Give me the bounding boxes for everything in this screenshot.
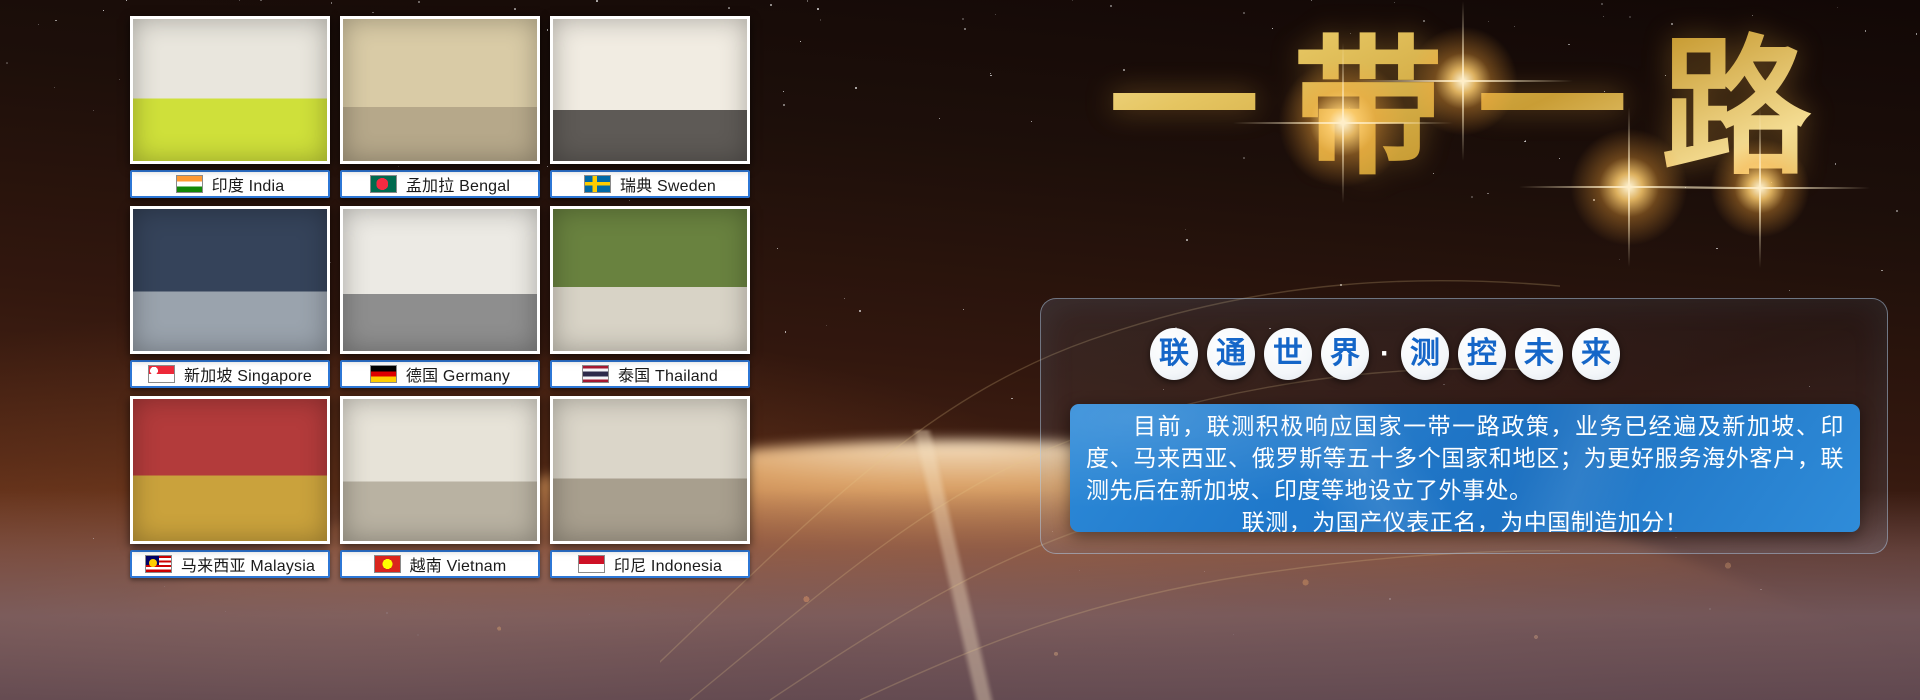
country-label: 新加坡 Singapore <box>184 362 312 386</box>
flag-singapore-icon <box>148 365 175 383</box>
photo-vignette <box>343 399 537 541</box>
gallery-card[interactable]: 印尼 Indonesia <box>550 396 750 578</box>
slogan-char-badge: 界 <box>1321 328 1369 380</box>
country-caption: 德国 Germany <box>340 360 540 388</box>
slogan-separator-dot: · <box>1378 339 1392 369</box>
country-label: 孟加拉 Bengal <box>406 172 510 196</box>
gallery-card[interactable]: 新加坡 Singapore <box>130 206 330 388</box>
country-photo[interactable] <box>550 396 750 544</box>
slogan-char-badge: 通 <box>1207 328 1255 380</box>
flag-bangladesh-icon <box>370 175 397 193</box>
slogan-char-badge: 联 <box>1150 328 1198 380</box>
country-caption: 印尼 Indonesia <box>550 550 750 578</box>
country-photo[interactable] <box>550 16 750 164</box>
photo-vignette <box>343 209 537 351</box>
gallery-card[interactable]: 孟加拉 Bengal <box>340 16 540 198</box>
gallery-card[interactable]: 瑞典 Sweden <box>550 16 750 198</box>
calligraphy-char: 一 <box>1477 33 1627 183</box>
slogan-char-badge: 测 <box>1401 328 1449 380</box>
flag-indonesia-icon <box>578 555 605 573</box>
country-caption: 孟加拉 Bengal <box>340 170 540 198</box>
gallery-card[interactable]: 德国 Germany <box>340 206 540 388</box>
photo-vignette <box>133 19 327 161</box>
country-label: 马来西亚 Malaysia <box>181 552 315 576</box>
flag-sweden-icon <box>584 175 611 193</box>
banner-stage: 印度 India孟加拉 Bengal瑞典 Sweden新加坡 Singapore… <box>0 0 1920 700</box>
country-photo[interactable] <box>550 206 750 354</box>
country-caption: 马来西亚 Malaysia <box>130 550 330 578</box>
description-paragraph: 目前，联测积极响应国家一带一路政策，业务已经遍及新加坡、印度、马来西亚、俄罗斯等… <box>1070 404 1860 507</box>
photo-vignette <box>133 209 327 351</box>
country-label: 印尼 Indonesia <box>614 552 722 576</box>
gallery-card[interactable]: 马来西亚 Malaysia <box>130 396 330 578</box>
photo-vignette <box>133 399 327 541</box>
slogan-char-badge: 控 <box>1458 328 1506 380</box>
calligraphy-char: 带 <box>1293 33 1443 183</box>
country-label: 瑞典 Sweden <box>620 172 716 196</box>
country-caption: 印度 India <box>130 170 330 198</box>
slogan-char-badge: 世 <box>1264 328 1312 380</box>
gallery-card[interactable]: 印度 India <box>130 16 330 198</box>
gallery-card[interactable]: 越南 Vietnam <box>340 396 540 578</box>
slogan-char-badge: 未 <box>1515 328 1563 380</box>
country-photo[interactable] <box>130 16 330 164</box>
calligraphy-char: 路 <box>1661 33 1811 183</box>
country-photo[interactable] <box>340 16 540 164</box>
country-caption: 新加坡 Singapore <box>130 360 330 388</box>
photo-vignette <box>343 19 537 161</box>
calligraphy-char: 一 <box>1109 33 1259 183</box>
flag-thailand-icon <box>582 365 609 383</box>
gallery-card[interactable]: 泰国 Thailand <box>550 206 750 388</box>
country-photo[interactable] <box>130 206 330 354</box>
flag-malaysia-icon <box>145 555 172 573</box>
country-caption: 泰国 Thailand <box>550 360 750 388</box>
photo-vignette <box>553 19 747 161</box>
flag-vietnam-icon <box>374 555 401 573</box>
slogan-row: 联通世界·测控未来 <box>1150 328 1620 380</box>
country-photo[interactable] <box>130 396 330 544</box>
calligraphy-characters: 一带一路 <box>1010 8 1910 208</box>
description-tagline: 联测，为国产仪表正名，为中国制造加分！ <box>1070 507 1860 532</box>
country-label: 德国 Germany <box>406 362 510 386</box>
country-caption: 越南 Vietnam <box>340 550 540 578</box>
country-label: 泰国 Thailand <box>618 362 718 386</box>
country-photo[interactable] <box>340 396 540 544</box>
photo-vignette <box>553 209 747 351</box>
flag-india-icon <box>176 175 203 193</box>
country-photo-grid: 印度 India孟加拉 Bengal瑞典 Sweden新加坡 Singapore… <box>130 16 750 578</box>
description-card: 目前，联测积极响应国家一带一路政策，业务已经遍及新加坡、印度、马来西亚、俄罗斯等… <box>1070 404 1860 532</box>
country-label: 印度 India <box>212 172 285 196</box>
slogan-char-badge: 来 <box>1572 328 1620 380</box>
country-label: 越南 Vietnam <box>410 552 507 576</box>
flag-germany-icon <box>370 365 397 383</box>
country-photo[interactable] <box>340 206 540 354</box>
calligraphy-headline: 一带一路 <box>1010 8 1910 208</box>
photo-vignette <box>553 399 747 541</box>
country-caption: 瑞典 Sweden <box>550 170 750 198</box>
